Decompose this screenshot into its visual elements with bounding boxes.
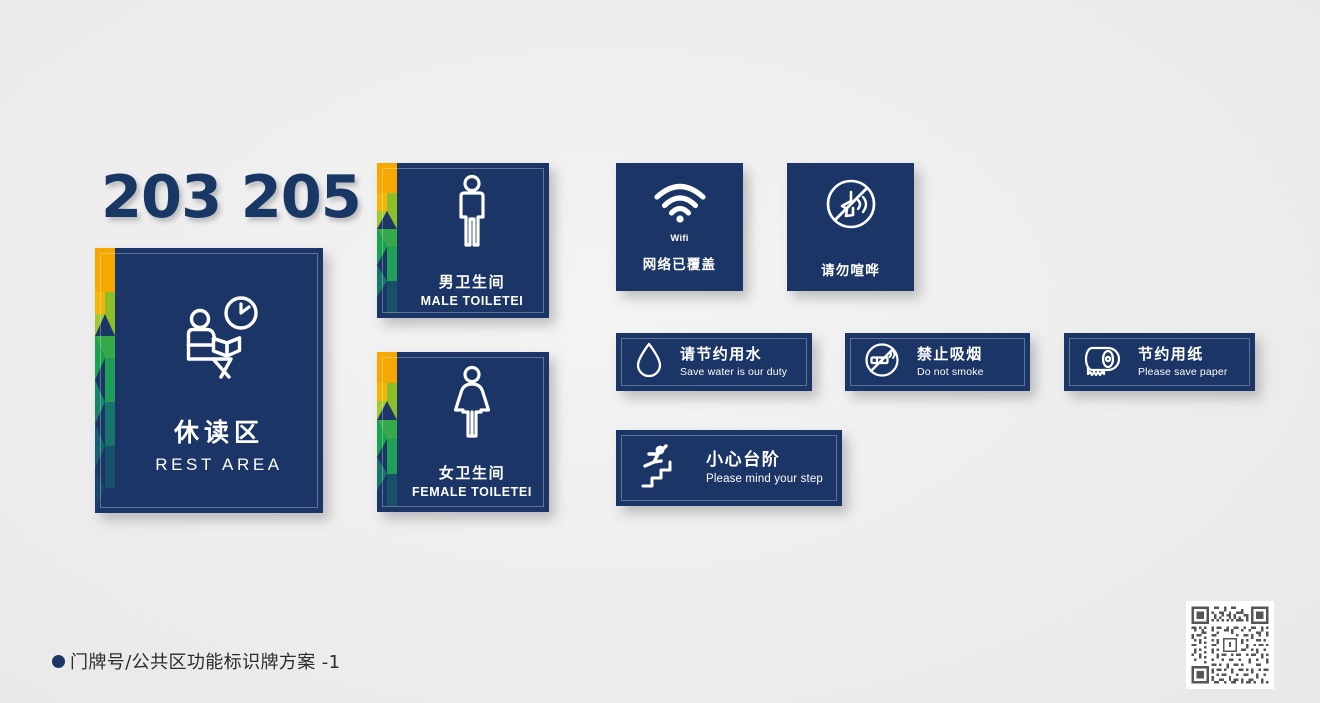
bullet-icon	[52, 655, 65, 668]
sign-wifi-label: Wifi	[670, 233, 688, 244]
sign-female-toilet-cn: 女卫生间	[439, 462, 505, 483]
sign-rest-area-body: 休读区 REST AREA	[115, 248, 323, 513]
facet-strip-male-toilet	[377, 163, 397, 318]
caption: 门牌号/公共区功能标识牌方案 -1	[52, 648, 341, 674]
sign-mind-step-en: Please mind your step	[706, 473, 823, 485]
sign-rest-area[interactable]: 休读区 REST AREA	[95, 248, 323, 513]
sign-save-paper-cn: 节约用纸	[1138, 346, 1228, 363]
sign-no-smoking-en: Do not smoke	[917, 366, 984, 378]
sign-rest-area-en: REST AREA	[155, 455, 283, 475]
sign-female-toilet[interactable]: 女卫生间 FEMALE TOILETEI	[377, 352, 549, 512]
sign-no-noise-cn: 请勿喧哗	[821, 259, 880, 279]
male-figure-icon	[448, 174, 496, 255]
sign-save-water-body: 请节约用水 Save water is our duty	[616, 333, 812, 391]
sign-wifi-body: Wifi 网络已覆盖	[616, 163, 743, 291]
sign-save-paper-en: Please save paper	[1138, 366, 1228, 378]
water-drop-icon	[634, 341, 664, 384]
qr-code[interactable]	[1186, 601, 1274, 689]
toilet-paper-icon	[1082, 341, 1122, 384]
sign-male-toilet-en: MALE TOILETEI	[421, 294, 524, 308]
sign-mind-step-cn: 小心台阶	[706, 451, 823, 471]
no-smoking-icon	[863, 341, 901, 384]
sign-no-smoking-body: 禁止吸烟 Do not smoke	[845, 333, 1030, 391]
room-numbers-label: 203 205	[101, 162, 361, 231]
sign-no-noise-body: 请勿喧哗	[787, 163, 914, 291]
sign-wifi[interactable]: Wifi 网络已覆盖	[616, 163, 743, 291]
caption-text: 门牌号/公共区功能标识牌方案 -1	[70, 648, 341, 674]
sign-wifi-cn: 网络已覆盖	[643, 253, 717, 273]
sign-save-water[interactable]: 请节约用水 Save water is our duty	[616, 333, 812, 391]
sign-mind-step[interactable]: 小心台阶 Please mind your step	[616, 430, 842, 506]
sign-male-toilet-body: 男卫生间 MALE TOILETEI	[395, 163, 549, 318]
facet-strip-rest-area	[95, 248, 115, 513]
person-reading-clock-icon	[173, 293, 265, 390]
sign-no-smoking[interactable]: 禁止吸烟 Do not smoke	[845, 333, 1030, 391]
signage-board: 203 205	[0, 0, 1320, 703]
sign-mind-step-body: 小心台阶 Please mind your step	[616, 430, 842, 506]
sign-male-toilet[interactable]: 男卫生间 MALE TOILETEI	[377, 163, 549, 318]
sign-save-paper[interactable]: 节约用纸 Please save paper	[1064, 333, 1255, 391]
no-shouting-icon	[822, 175, 880, 238]
sign-no-noise[interactable]: 请勿喧哗	[787, 163, 914, 291]
sign-female-toilet-en: FEMALE TOILETEI	[412, 485, 532, 499]
female-figure-icon	[446, 365, 498, 446]
sign-rest-area-cn: 休读区	[174, 418, 264, 448]
sign-no-smoking-cn: 禁止吸烟	[917, 346, 984, 363]
slipping-person-stairs-icon	[638, 442, 688, 495]
wifi-icon	[651, 181, 709, 228]
facet-strip-female-toilet	[377, 352, 397, 512]
sign-save-water-en: Save water is our duty	[680, 366, 787, 378]
sign-female-toilet-body: 女卫生间 FEMALE TOILETEI	[395, 352, 549, 512]
sign-save-water-cn: 请节约用水	[680, 346, 787, 363]
sign-save-paper-body: 节约用纸 Please save paper	[1064, 333, 1255, 391]
sign-male-toilet-cn: 男卫生间	[439, 271, 505, 292]
